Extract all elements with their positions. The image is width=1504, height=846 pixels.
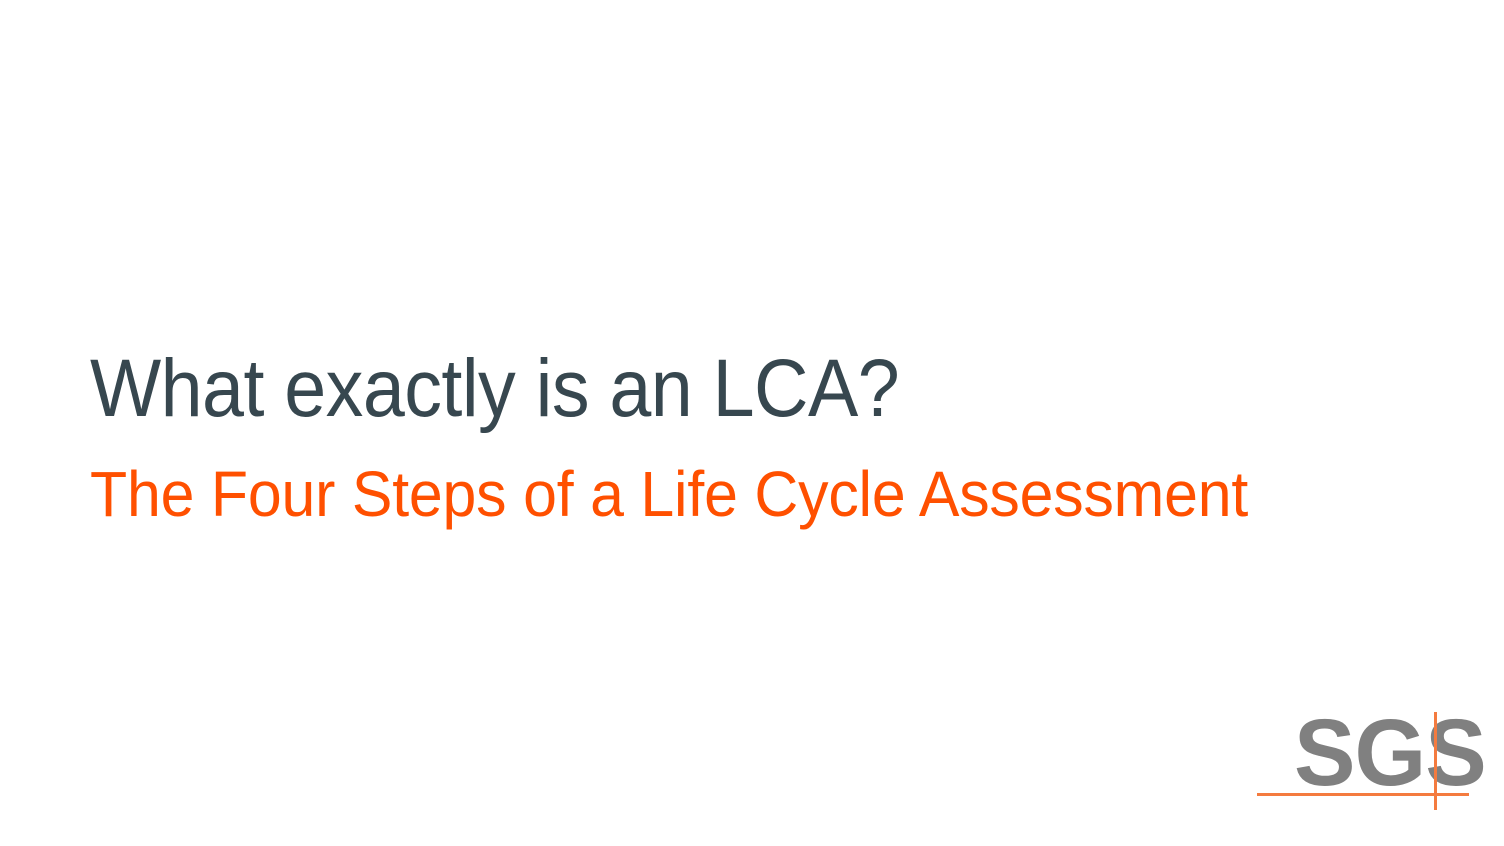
presentation-slide: What exactly is an LCA? The Four Steps o… <box>0 0 1504 846</box>
slide-subtitle: The Four Steps of a Life Cycle Assessmen… <box>90 430 1344 526</box>
logo-horizontal-rule-icon <box>1257 793 1469 796</box>
sgs-wordmark-text: SGS <box>1294 706 1486 801</box>
logo-vertical-rule-icon <box>1434 712 1437 810</box>
sgs-logo: SGS <box>1250 700 1472 820</box>
slide-title: What exactly is an LCA? <box>90 330 1304 430</box>
title-block: What exactly is an LCA? The Four Steps o… <box>90 330 1410 526</box>
